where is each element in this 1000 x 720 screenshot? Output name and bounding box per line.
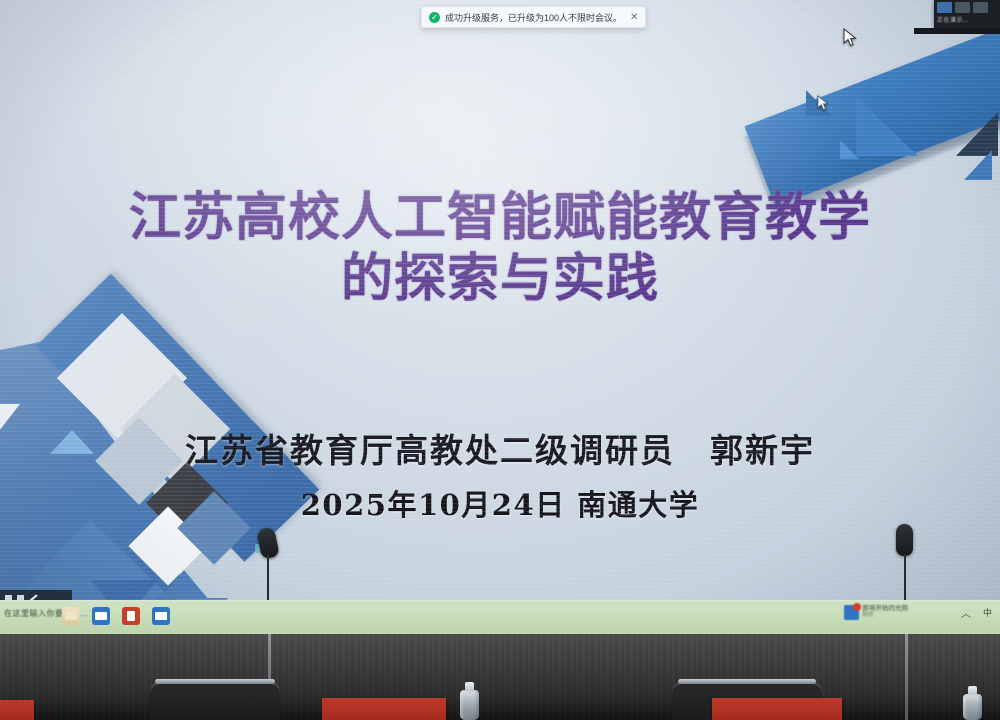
water-bottle-right bbox=[963, 694, 982, 720]
projection-screen: 江苏高校人工智能赋能教育教学 的探索与实践 江苏省教育厅高教处二级调研员 郭新宇… bbox=[0, 0, 1000, 612]
share-chip-icon[interactable] bbox=[955, 2, 970, 13]
news-widget-subtitle: 财经 bbox=[863, 613, 909, 619]
file-explorer-icon[interactable] bbox=[62, 607, 80, 625]
wps-spreadsheet-icon[interactable] bbox=[152, 607, 170, 625]
wps-writer-icon[interactable] bbox=[92, 607, 110, 625]
mouse-pointer-primary bbox=[843, 28, 857, 48]
screenshot-root: 江苏高校人工智能赋能教育教学 的探索与实践 江苏省教育厅高教处二级调研员 郭新宇… bbox=[0, 0, 1000, 720]
news-widget-text: 即将开始的光照 财经 bbox=[863, 606, 909, 619]
toast-message: 成功升级服务，已升级为100人不限时会议。 bbox=[445, 11, 622, 24]
meeting-status-label: 正在演示… bbox=[934, 13, 1000, 24]
blue-triangle-right bbox=[964, 150, 992, 180]
news-weather-widget[interactable]: 即将开始的光照 财经 bbox=[844, 605, 909, 620]
news-badge-icon bbox=[844, 605, 859, 620]
input-method-indicator[interactable]: 中 bbox=[983, 606, 992, 619]
slide-dateline: 2025年10月24日 南通大学 bbox=[0, 482, 1000, 524]
meeting-bar-shadow bbox=[914, 28, 1000, 34]
blue-triangle-large bbox=[856, 96, 918, 156]
chair-left bbox=[150, 682, 280, 720]
bottle-cap-right bbox=[968, 686, 977, 695]
name-card-far-left bbox=[0, 700, 34, 720]
water-bottle-center bbox=[460, 690, 479, 720]
upgrade-toast[interactable]: ✓ 成功升级服务，已升级为100人不限时会议。 ✕ bbox=[421, 6, 646, 28]
slide-title: 江苏高校人工智能赋能教育教学 的探索与实践 bbox=[0, 188, 1000, 311]
success-check-icon: ✓ bbox=[429, 12, 440, 23]
chair-right-rim bbox=[678, 679, 816, 684]
system-tray: ︿ 中 bbox=[961, 605, 992, 620]
mouse-pointer-secondary bbox=[817, 95, 829, 112]
chair-left-rim bbox=[155, 679, 275, 684]
close-icon[interactable]: ✕ bbox=[630, 12, 638, 23]
more-chip-icon[interactable] bbox=[973, 2, 988, 13]
video-chip-icon[interactable] bbox=[937, 2, 952, 13]
windows-taskbar[interactable]: 在这里输入你要搜索… 即将开始的光照 财经 ︿ 中 bbox=[0, 600, 1000, 634]
name-card-left bbox=[322, 698, 446, 720]
blue-triangle-small bbox=[840, 140, 859, 159]
slide-title-line1: 江苏高校人工智能赋能教育教学 bbox=[129, 188, 871, 248]
stand-post-right bbox=[905, 634, 908, 720]
microphone-right-head bbox=[896, 524, 913, 556]
taskbar-icon-group bbox=[62, 607, 170, 625]
slide-byline: 江苏省教育厅高教处二级调研员 郭新宇 bbox=[0, 424, 1000, 472]
meeting-chip-row bbox=[934, 0, 1000, 13]
wps-presentation-icon[interactable] bbox=[122, 607, 140, 625]
name-card-right bbox=[712, 698, 842, 720]
bottle-cap-center bbox=[465, 682, 474, 691]
slide-title-line2: 的探索与实践 bbox=[0, 249, 1000, 310]
meeting-control-bar[interactable]: 正在演示… bbox=[934, 0, 1000, 28]
chevron-up-icon[interactable]: ︿ bbox=[961, 605, 971, 620]
